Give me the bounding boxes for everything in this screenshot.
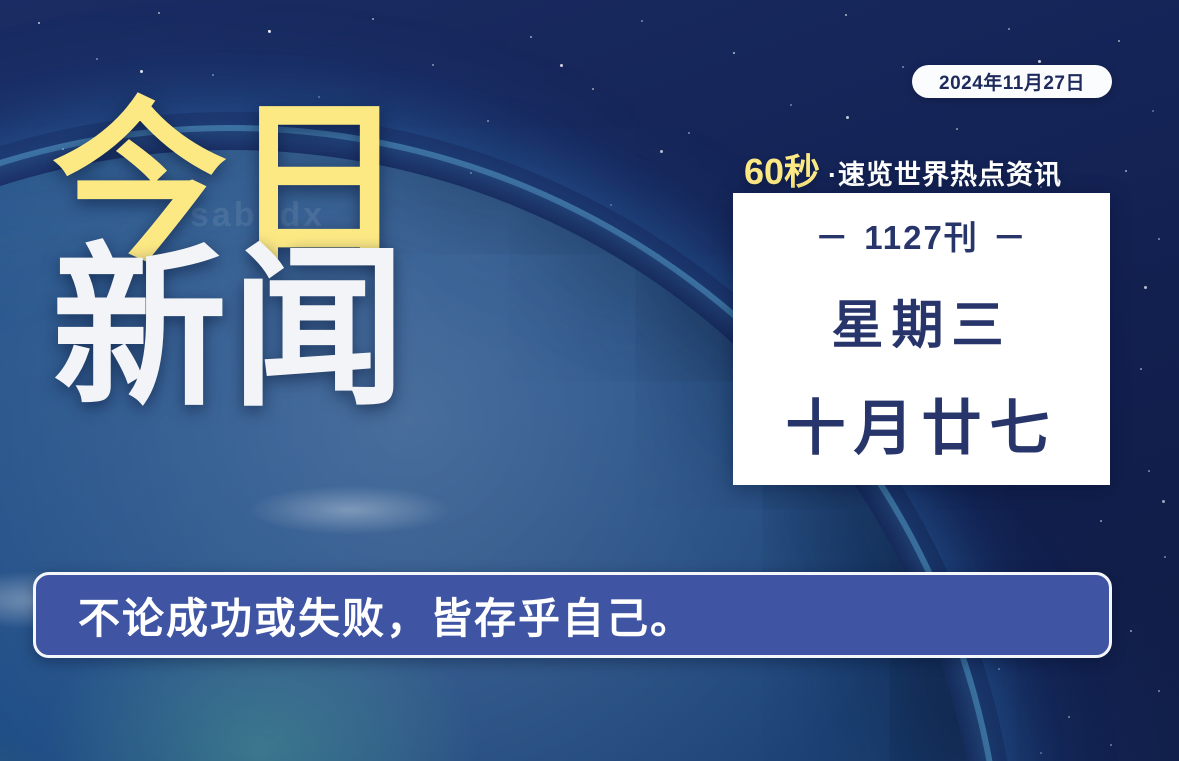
weekday-label: 星期三: [831, 283, 1011, 358]
lunar-date-label: 十月廿七: [786, 380, 1058, 467]
title-line-xinwen: 新闻: [52, 249, 410, 410]
quote-text: 不论成功或失败，皆存乎自己。: [78, 585, 694, 646]
tagline-rest: ·速览世界热点资讯: [828, 153, 1062, 192]
issue-dash-right: －: [993, 219, 1028, 256]
tagline-highlight: 60秒: [744, 143, 820, 195]
poster-title: 今日 新闻: [52, 104, 410, 410]
issue-row: －1127刊－: [801, 211, 1042, 259]
poster-canvas: sabcdx 今日 新闻 2024年11月27日 60秒 ·速览世界热点资讯 －…: [0, 0, 1179, 761]
date-info-card: －1127刊－ 星期三 十月廿七: [733, 193, 1110, 485]
tagline: 60秒 ·速览世界热点资讯: [744, 143, 1062, 195]
quote-banner: 不论成功或失败，皆存乎自己。: [33, 572, 1112, 658]
issue-dash-left: －: [815, 219, 850, 256]
issue-number: 1127刊: [864, 219, 979, 256]
date-badge-label: 2024年11月27日: [939, 68, 1085, 95]
date-badge: 2024年11月27日: [912, 65, 1112, 98]
